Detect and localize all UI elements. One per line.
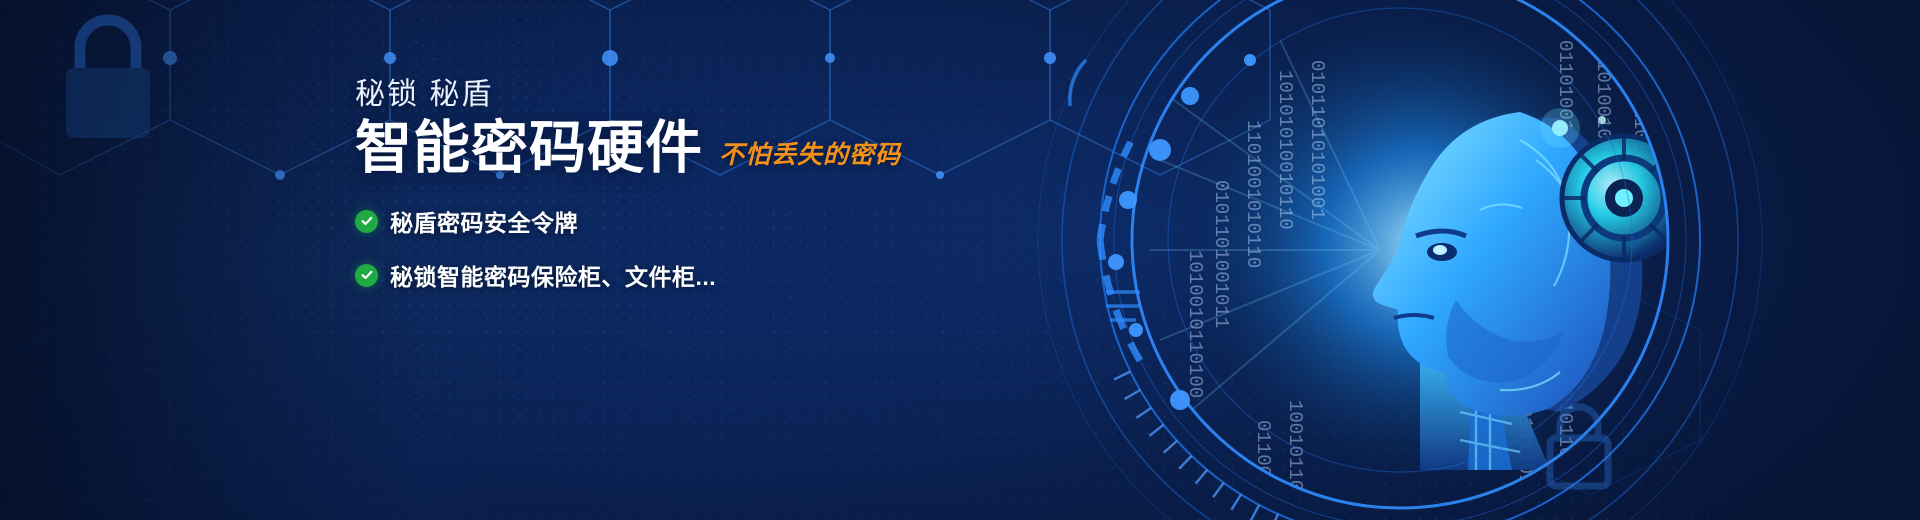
banner-copy: 秘锁 秘盾 智能密码硬件 不怕丢失的密码 秘盾密码安全令牌	[355, 78, 975, 312]
padlock-outline-icon-secondary	[1538, 398, 1620, 494]
check-circle-icon	[355, 210, 378, 233]
feature-list: 秘盾密码安全令牌 秘锁智能密码保险柜、文件柜...	[355, 204, 975, 292]
ai-robot-hero-art: 10101010010110 01011010101001 1101001010…	[860, 0, 1920, 520]
list-item: 秘盾密码安全令牌	[355, 204, 975, 238]
headline-row: 智能密码硬件 不怕丢失的密码	[355, 119, 975, 178]
promo-banner: 10101010010110 01011010101001 1101001010…	[0, 0, 1920, 520]
svg-text:10101010010110: 10101010010110	[1274, 70, 1296, 230]
list-item-label: 秘锁智能密码保险柜、文件柜...	[390, 258, 716, 292]
svg-text:1010010110100: 1010010110100	[1184, 250, 1206, 398]
list-item: 秘锁智能密码保险柜、文件柜...	[355, 258, 975, 292]
svg-text:1001011010010: 1001011010010	[1284, 400, 1306, 520]
tagline-text: 不怕丢失的密码	[719, 135, 901, 178]
page-title: 智能密码硬件	[355, 119, 703, 178]
padlock-outline-icon	[48, 12, 168, 142]
eyebrow-text: 秘锁 秘盾	[355, 78, 975, 111]
svg-text:01011010101001: 01011010101001	[1306, 60, 1328, 220]
list-item-label: 秘盾密码安全令牌	[390, 204, 578, 238]
check-circle-icon	[355, 264, 378, 287]
svg-text:0101101001011: 0101101001011	[1210, 180, 1232, 328]
